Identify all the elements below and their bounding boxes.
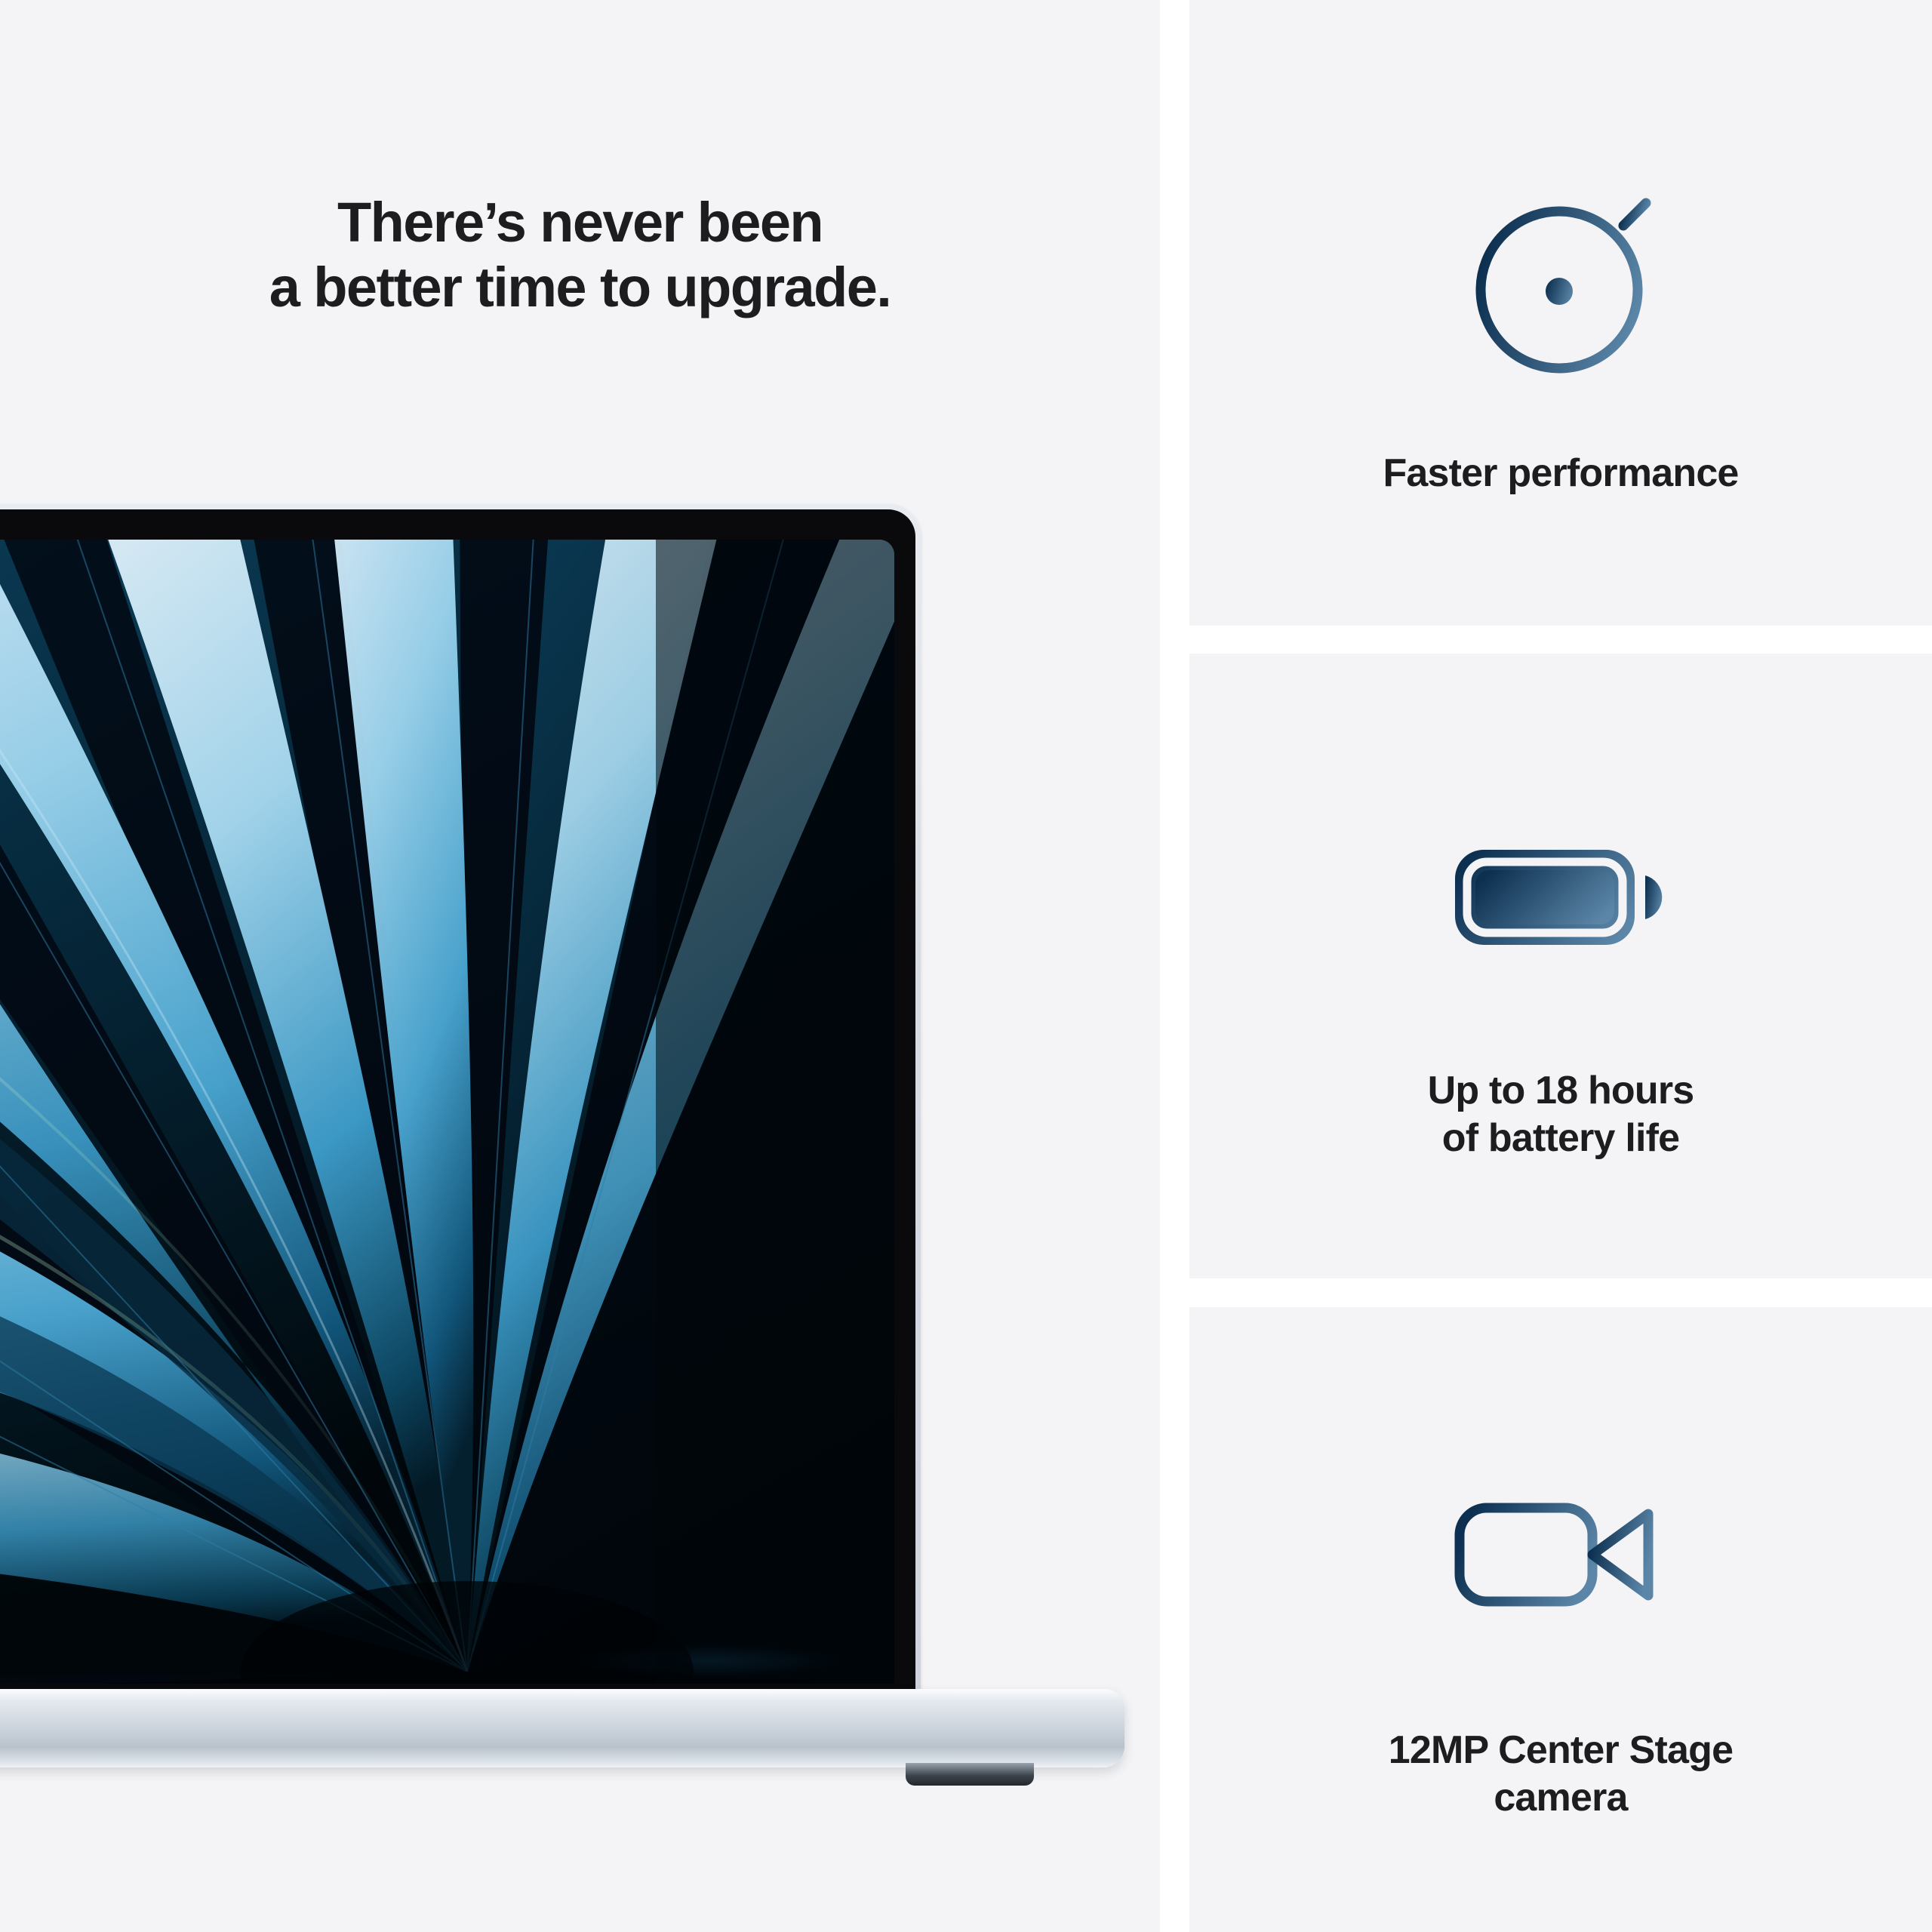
- product-feature-layout: There’s never been a better time to upgr…: [0, 0, 1932, 1932]
- hero-panel: There’s never been a better time to upgr…: [0, 0, 1160, 1932]
- battery-icon-wrap: [1189, 783, 1932, 1010]
- stopwatch-icon: [1463, 169, 1659, 374]
- page-title: There’s never been a better time to upgr…: [0, 190, 1160, 320]
- feature-cards: Faster performance: [1189, 0, 1932, 1932]
- video-camera-icon-wrap: [1189, 1440, 1932, 1666]
- stopwatch-icon-wrap: [1189, 158, 1932, 385]
- feature-label: 12MP Center Stage camera: [1236, 1727, 1885, 1823]
- feature-card-faster-performance: Faster performance: [1189, 0, 1932, 626]
- laptop-bezel: [0, 509, 915, 1700]
- laptop-foot: [906, 1763, 1034, 1786]
- laptop-screen: [0, 540, 894, 1684]
- feature-card-battery-life: Up to 18 hours of battery life: [1189, 654, 1932, 1278]
- feature-label: Up to 18 hours of battery life: [1236, 1067, 1885, 1163]
- laptop-product-image: [0, 504, 924, 1780]
- video-camera-icon: [1447, 1478, 1674, 1629]
- feature-card-center-stage-camera: 12MP Center Stage camera: [1189, 1307, 1932, 1932]
- wallpaper-fan-art: [0, 540, 894, 1684]
- laptop-base: [0, 1689, 1124, 1767]
- feature-label: Faster performance: [1236, 450, 1885, 497]
- laptop-lid: [0, 504, 921, 1704]
- battery-icon: [1447, 829, 1674, 964]
